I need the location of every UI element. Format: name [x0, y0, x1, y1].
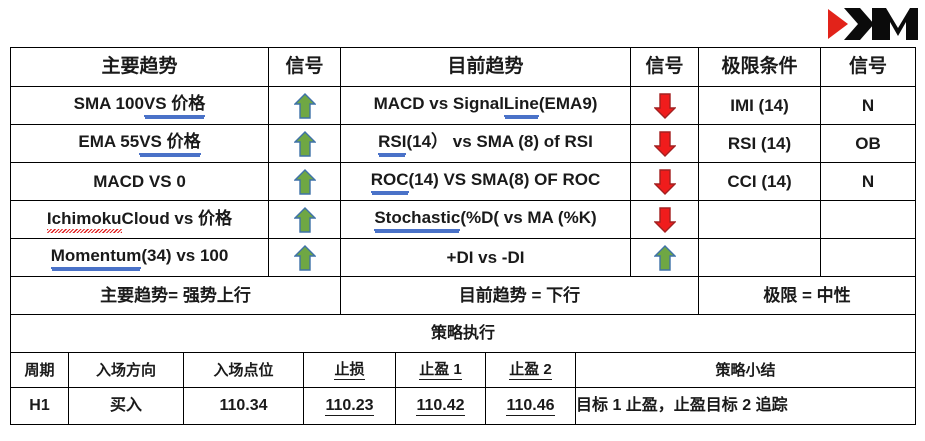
strategy-header-stop-loss: 止损 [304, 353, 396, 388]
strategy-value-row: H1 买入 110.34 110.23 110.42 110.46 目标 1 止… [11, 388, 916, 425]
cell-extreme-condition [699, 201, 821, 239]
cell-signal-3: OB [821, 125, 916, 163]
strategy-value-entry: 110.34 [184, 388, 304, 425]
cell-current-trend: RSI(14） vs SMA (8) of RSI [341, 125, 631, 163]
summary-current-trend: 目前趋势 = 下行 [341, 277, 699, 315]
cell-signal-1 [269, 239, 341, 277]
cell-main-trend: Momentum(34) vs 100 [11, 239, 269, 277]
cell-signal-2 [631, 87, 699, 125]
header-current-trend: 目前趋势 [341, 48, 631, 87]
strategy-value-tp2: 110.46 [486, 388, 576, 425]
cell-main-trend: MACD VS 0 [11, 163, 269, 201]
cell-extreme-condition: RSI (14) [699, 125, 821, 163]
xm-logo [826, 4, 918, 44]
cell-signal-3 [821, 239, 916, 277]
table-row: Momentum(34) vs 100 +DI vs -DI [11, 239, 916, 277]
cell-signal-1 [269, 87, 341, 125]
strategy-header-direction: 入场方向 [69, 353, 184, 388]
arrow-up-icon [294, 169, 316, 195]
cell-current-trend: +DI vs -DI [341, 239, 631, 277]
cell-signal-1 [269, 163, 341, 201]
arrow-up-icon [294, 131, 316, 157]
arrow-up-icon [294, 245, 316, 271]
arrow-up-icon [294, 93, 316, 119]
underlined-text: Momentum [51, 247, 142, 269]
summary-extreme: 极限 = 中性 [699, 277, 916, 315]
header-signal-1: 信号 [269, 48, 341, 87]
cell-signal-2 [631, 239, 699, 277]
cell-signal-3: N [821, 163, 916, 201]
strategy-value-period: H1 [11, 388, 69, 425]
screenshot-root: 主要趋势 信号 目前趋势 信号 极限条件 信号 SMA 100 VS 价格 MA… [0, 0, 925, 441]
strategy-value-stop-loss: 110.23 [304, 388, 396, 425]
cell-extreme-condition: IMI (14) [699, 87, 821, 125]
table-header-row: 主要趋势 信号 目前趋势 信号 极限条件 信号 [11, 48, 916, 87]
table-row: EMA 55 VS 价格 RSI(14） vs SMA (8) of RSI R… [11, 125, 916, 163]
strategy-header-tp1: 止盈 1 [396, 353, 486, 388]
underlined-text: ROC [371, 171, 409, 193]
cell-signal-2 [631, 163, 699, 201]
strategy-header-summary: 策略小结 [576, 353, 916, 388]
summary-row: 主要趋势= 强势上行 目前趋势 = 下行 极限 = 中性 [11, 277, 916, 315]
strategy-header-tp2: 止盈 2 [486, 353, 576, 388]
header-main-trend: 主要趋势 [11, 48, 269, 87]
strategy-exec-title: 策略执行 [11, 315, 916, 354]
arrow-up-icon [654, 245, 676, 271]
header-signal-3: 信号 [821, 48, 916, 87]
cell-signal-1 [269, 201, 341, 239]
cell-current-trend: ROC(14) VS SMA(8) OF ROC [341, 163, 631, 201]
cell-main-trend: Ichimoku Cloud vs 价格 [11, 201, 269, 239]
underlined-text: Line [504, 95, 539, 117]
arrow-down-icon [654, 131, 676, 157]
table-row: Ichimoku Cloud vs 价格 Stochastic(%D( vs M… [11, 201, 916, 239]
strategy-value-summary: 目标 1 止盈，止盈目标 2 追踪 [576, 388, 916, 425]
cell-signal-3 [821, 201, 916, 239]
cell-extreme-condition: CCI (14) [699, 163, 821, 201]
cell-signal-3: N [821, 87, 916, 125]
misspelled-text: Ichimoku [47, 210, 122, 230]
header-extreme-condition: 极限条件 [699, 48, 821, 87]
table-row: MACD VS 0 ROC(14) VS SMA(8) OF ROC CCI (… [11, 163, 916, 201]
cell-current-trend: Stochastic(%D( vs MA (%K) [341, 201, 631, 239]
arrow-down-icon [654, 207, 676, 233]
strategy-exec-title-row: 策略执行 [11, 315, 916, 354]
underlined-text: VS 价格 [139, 133, 200, 155]
arrow-down-icon [654, 93, 676, 119]
strategy-header-row: 周期 入场方向 入场点位 止损 止盈 1 止盈 2 策略小结 [11, 353, 916, 388]
underlined-text: Stochastic [374, 209, 460, 231]
cell-signal-2 [631, 125, 699, 163]
header-signal-2: 信号 [631, 48, 699, 87]
strategy-table: 周期 入场方向 入场点位 止损 止盈 1 止盈 2 策略小结 H1 买入 110… [10, 352, 916, 425]
signal-table: 主要趋势 信号 目前趋势 信号 极限条件 信号 SMA 100 VS 价格 MA… [10, 47, 916, 354]
cell-main-trend: EMA 55 VS 价格 [11, 125, 269, 163]
strategy-header-period: 周期 [11, 353, 69, 388]
cell-current-trend: MACD vs Signal Line(EMA9) [341, 87, 631, 125]
underlined-text: VS 价格 [144, 95, 205, 117]
cell-main-trend: SMA 100 VS 价格 [11, 87, 269, 125]
strategy-header-entry: 入场点位 [184, 353, 304, 388]
arrow-down-icon [654, 169, 676, 195]
arrow-up-icon [294, 207, 316, 233]
table-row: SMA 100 VS 价格 MACD vs Signal Line(EMA9) … [11, 87, 916, 125]
underlined-text: RSI [378, 133, 406, 155]
summary-main-trend: 主要趋势= 强势上行 [11, 277, 341, 315]
cell-extreme-condition [699, 239, 821, 277]
strategy-value-tp1: 110.42 [396, 388, 486, 425]
cell-signal-2 [631, 201, 699, 239]
signal-table-wrapper: 主要趋势 信号 目前趋势 信号 极限条件 信号 SMA 100 VS 价格 MA… [10, 47, 915, 425]
cell-signal-1 [269, 125, 341, 163]
strategy-value-direction: 买入 [69, 388, 184, 425]
